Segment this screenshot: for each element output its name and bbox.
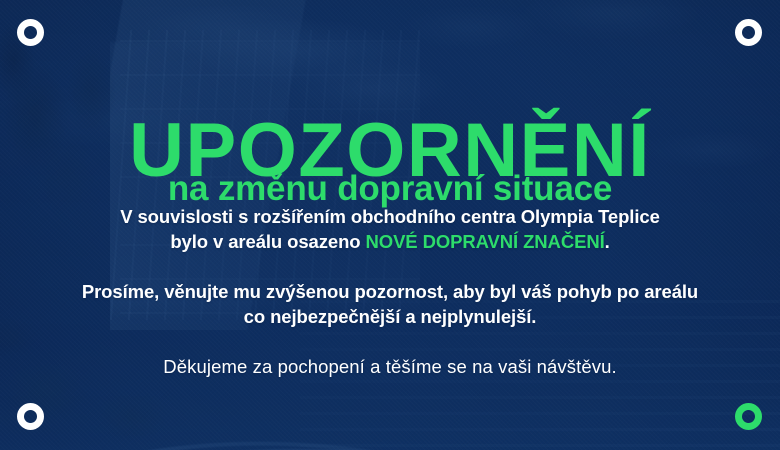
paragraph-notice-line-1: V souvislosti s rozšířením obchodního ce… xyxy=(120,206,660,227)
paragraph-notice-highlight: NOVÉ DOPRAVNÍ ZNAČENÍ xyxy=(366,231,605,252)
paragraph-notice-line-2-suffix: . xyxy=(605,231,610,252)
body-text-block: V souvislosti s rozšířením obchodního ce… xyxy=(0,205,780,379)
page-subtitle: na změnu dopravní situace xyxy=(0,171,780,206)
paragraph-notice: V souvislosti s rozšířením obchodního ce… xyxy=(0,205,780,254)
paragraph-notice-line-2-prefix: bylo v areálu osazeno xyxy=(170,231,365,252)
paragraph-request: Prosíme, věnujte mu zvýšenou pozornost, … xyxy=(0,280,780,329)
poster-content: UPOZORNĚNÍ na změnu dopravní situace V s… xyxy=(0,0,780,450)
announcement-poster: UPOZORNĚNÍ na změnu dopravní situace V s… xyxy=(0,0,780,450)
paragraph-thanks: Děkujeme za pochopení a těšíme se na vaš… xyxy=(0,355,780,379)
paragraph-request-line-1: Prosíme, věnujte mu zvýšenou pozornost, … xyxy=(82,281,698,302)
paragraph-request-line-2: co nejbezpečnější a nejplynulejší. xyxy=(244,306,537,327)
